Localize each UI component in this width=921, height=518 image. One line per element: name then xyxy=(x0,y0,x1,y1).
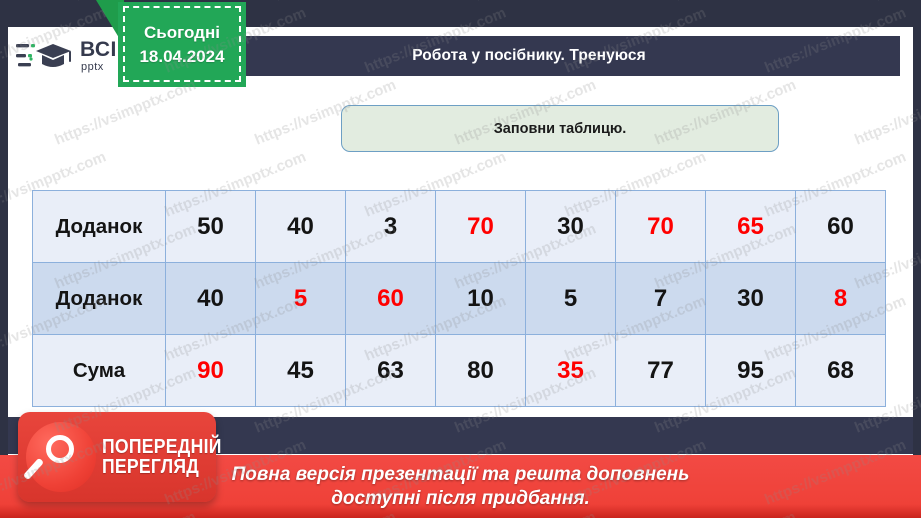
preview-badge: ПОПЕРЕДНІЙ ПЕРЕГЛЯД xyxy=(18,412,216,502)
preview-badge-line-2: ПЕРЕГЛЯД xyxy=(102,457,222,477)
table-cell: 60 xyxy=(796,191,886,263)
table-cell: 80 xyxy=(436,335,526,407)
table-cell: 60 xyxy=(346,263,436,335)
table-cell: 40 xyxy=(256,191,346,263)
table-cell: 7 xyxy=(616,263,706,335)
table-body: Доданок504037030706560Доданок40560105730… xyxy=(33,191,886,407)
today-label: Сьогодні xyxy=(144,23,220,43)
table-cell: 40 xyxy=(166,263,256,335)
table-cell: 30 xyxy=(706,263,796,335)
purchase-banner-line-1: Повна версія презентації та решта доповн… xyxy=(232,463,690,486)
watermark-text: https://vsimpptx.com xyxy=(472,0,618,5)
watermark-text: https://vsimpptx.com xyxy=(272,0,418,5)
table-cell: 10 xyxy=(436,263,526,335)
table-cell: 50 xyxy=(166,191,256,263)
table-row-label: Доданок xyxy=(33,191,166,263)
instruction-box: Заповни таблицю. xyxy=(341,105,779,152)
table-cell: 68 xyxy=(796,335,886,407)
table-cell: 30 xyxy=(526,191,616,263)
addition-table: Доданок504037030706560Доданок40560105730… xyxy=(32,190,886,407)
today-date: 18.04.2024 xyxy=(139,47,224,67)
table-cell: 8 xyxy=(796,263,886,335)
magnifier-icon xyxy=(26,422,96,492)
table-cell: 70 xyxy=(436,191,526,263)
table-cell: 5 xyxy=(526,263,616,335)
today-badge: Сьогодні 18.04.2024 xyxy=(118,2,246,87)
table-cell: 95 xyxy=(706,335,796,407)
table-cell: 5 xyxy=(256,263,346,335)
watermark-text: https://vsimpptx.com xyxy=(872,0,921,5)
watermark-text: https://vsimpptx.com xyxy=(0,0,19,5)
preview-badge-line-1: ПОПЕРЕДНІЙ xyxy=(102,437,222,457)
table-cell: 45 xyxy=(256,335,346,407)
table-cell: 90 xyxy=(166,335,256,407)
table-cell: 3 xyxy=(346,191,436,263)
table-row-label: Сума xyxy=(33,335,166,407)
slide-canvas: п Робота у посібнику. Тренуюся ВСІМ pptx xyxy=(0,0,921,518)
table-cell: 65 xyxy=(706,191,796,263)
table-row: Доданок504037030706560 xyxy=(33,191,886,263)
table-cell: 70 xyxy=(616,191,706,263)
magnifier-ring xyxy=(46,435,74,463)
watermark-text: https://vsimpptx.com xyxy=(672,0,818,5)
table-row: Доданок405601057308 xyxy=(33,263,886,335)
table-cell: 35 xyxy=(526,335,616,407)
page-title: Робота у посібнику. Тренуюся xyxy=(412,47,646,65)
preview-badge-text: ПОПЕРЕДНІЙ ПЕРЕГЛЯД xyxy=(102,437,238,478)
graduation-cap-icon xyxy=(16,38,74,74)
table-cell: 77 xyxy=(616,335,706,407)
instruction-text: Заповни таблицю. xyxy=(494,121,627,137)
slide-header-bar: Робота у посібнику. Тренуюся xyxy=(158,36,900,76)
table-row: Сума9045638035779568 xyxy=(33,335,886,407)
purchase-banner-line-2: доступні після придбання. xyxy=(331,487,590,510)
table-row-label: Доданок xyxy=(33,263,166,335)
table-cell: 63 xyxy=(346,335,436,407)
magnifier-handle xyxy=(23,458,44,481)
